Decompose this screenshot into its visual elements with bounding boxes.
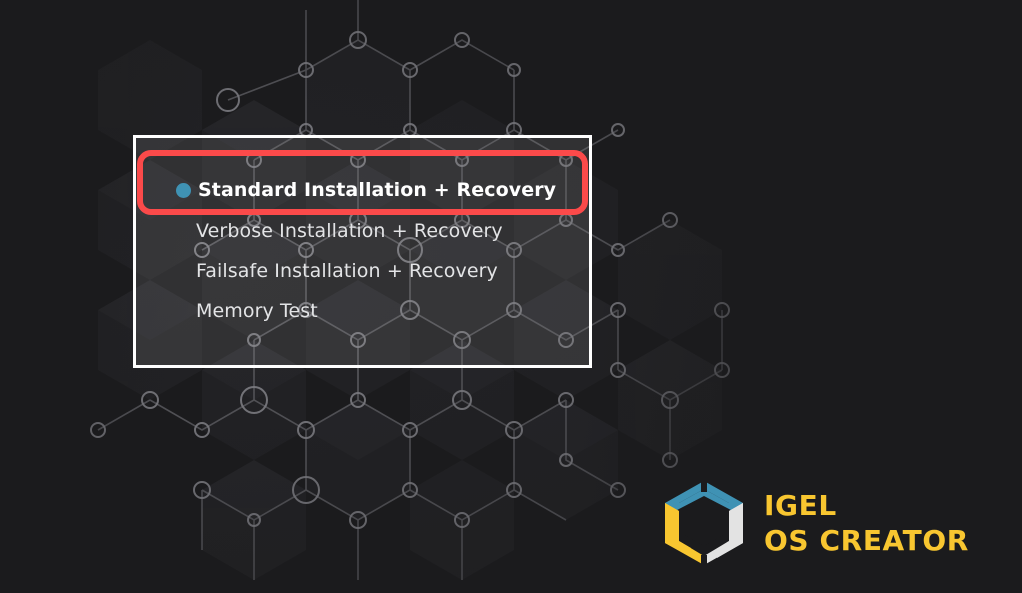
selection-bullet-icon [176, 183, 191, 198]
boot-menu-list: Standard Installation + Recovery Verbose… [136, 138, 589, 365]
boot-menu-item-label: Memory Test [196, 300, 318, 322]
boot-screen: Standard Installation + Recovery Verbose… [0, 0, 1022, 593]
boot-menu-panel: Standard Installation + Recovery Verbose… [133, 135, 592, 368]
logo-wordmark: IGEL OS CREATOR [764, 489, 969, 557]
boot-menu-item-verbose[interactable]: Verbose Installation + Recovery [136, 211, 589, 251]
boot-menu-item-label: Standard Installation + Recovery [198, 179, 556, 201]
boot-menu-item-label: Verbose Installation + Recovery [196, 220, 503, 242]
logo-line-igel: IGEL [764, 489, 969, 522]
boot-menu-item-standard[interactable]: Standard Installation + Recovery [136, 170, 589, 210]
logo-line-os-creator: OS CREATOR [764, 524, 969, 557]
igel-os-creator-logo: IGEL OS CREATOR [663, 479, 963, 567]
boot-menu-item-memory-test[interactable]: Memory Test [136, 291, 589, 331]
boot-menu-item-label: Failsafe Installation + Recovery [196, 260, 498, 282]
boot-menu-item-failsafe[interactable]: Failsafe Installation + Recovery [136, 251, 589, 291]
igel-hexagon-logo-icon [663, 479, 745, 567]
